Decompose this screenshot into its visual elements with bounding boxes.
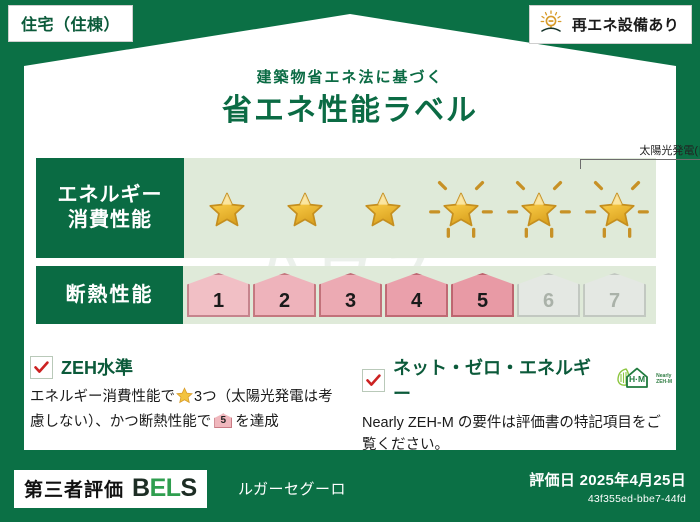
insulation-level-number: 5 [477,290,488,313]
housing-type-tag: 住宅（住棟） [8,5,133,42]
zeh-m-caption-line2: ZEH-M [656,379,672,385]
star-rating [184,169,656,247]
insulation-level-2: 2 [253,273,316,317]
zeh-standard-header: ZEH水準 [30,354,340,380]
insulation-level-3: 3 [319,273,382,317]
energy-performance-label-box: エネルギー 消費性能 [36,158,184,258]
bels-letter-s: S [181,474,197,502]
energy-stars-area: 太陽光発電(自家消費)分 [184,158,656,258]
zeh-standard-block: ZEH水準 エネルギー消費性能で3つ（太陽光発電は考慮しない）、かつ断熱性能で5… [30,354,340,434]
insulation-level-number: 7 [609,290,620,313]
solar-annotation-caption: 太陽光発電(自家消費)分 [580,142,700,158]
energy-label-line2: 消費性能 [68,208,152,233]
star-icon [500,169,578,247]
zeh-body-part1: エネルギー消費性能で [30,389,175,405]
insulation-label: 断熱性能 [66,283,154,308]
solar-annotation: 太陽光発電(自家消費)分 [580,142,700,169]
energy-label-line1: エネルギー [58,183,163,208]
zeh-standard-body: エネルギー消費性能で3つ（太陽光発電は考慮しない）、かつ断熱性能で5を達成 [30,386,340,434]
net-zero-energy-title: ネット・ゼロ・エネルギー [393,354,604,406]
insulation-level-number: 2 [279,290,290,313]
bels-certification-box: 第三者評価 BELS [14,470,207,508]
star-icon [344,169,422,247]
evaluation-info: 評価日 2025年4月25日 43f355ed-bbe7-44fd [529,469,686,505]
star-icon [422,169,500,247]
label-subtitle: 建築物省エネ法に基づく [0,66,700,87]
evaluation-date: 評価日 2025年4月25日 [529,469,686,490]
company-name: ルガーセグーロ [238,478,346,499]
net-zero-energy-body: Nearly ZEH-M の要件は評価書の特記項目をご覧ください。 [362,412,672,457]
star-icon [188,169,266,247]
zeh-standard-title: ZEH水準 [61,354,133,380]
insulation-level-6: 6 [517,273,580,317]
insulation-level-number: 1 [213,290,224,313]
insulation-level-number: 6 [543,290,554,313]
renewable-equipment-badge: 再エネ設備あり [529,5,692,44]
insulation-level-inline-num: 5 [214,413,232,428]
label-title: 省エネ性能ラベル [0,85,700,129]
insulation-level-5: 5 [451,273,514,317]
insulation-level-number: 3 [345,290,356,313]
bels-letter-b: B [132,474,150,502]
net-zero-energy-block: ネット・ゼロ・エネルギー H·M Nearly ZEH-M [362,354,672,457]
energy-performance-label: ハウス 住宅（住棟） 再エネ設備あり [0,0,700,522]
insulation-level-1: 1 [187,273,250,317]
zeh-body-part3: を達成 [235,414,279,430]
third-party-evaluation-label: 第三者評価 [24,475,124,502]
zeh-standard-checkbox[interactable] [30,356,53,379]
net-zero-energy-checkbox[interactable] [362,369,385,392]
insulation-level-list: 1 2 3 4 5 6 7 [187,273,646,317]
star-icon [176,387,193,411]
zeh-m-logo-caption: Nearly ZEH-M [656,374,672,386]
insulation-level-4: 4 [385,273,448,317]
solar-sun-icon [538,10,564,39]
net-zero-energy-header: ネット・ゼロ・エネルギー H·M Nearly ZEH-M [362,354,672,406]
bels-letter-e: E [150,474,166,502]
bels-logo: BELS [132,474,197,503]
zeh-m-logo: H·M Nearly ZEH-M [614,366,672,394]
insulation-performance-label-box: 断熱性能 [36,266,183,324]
evaluation-id: 43f355ed-bbe7-44fd [529,493,686,505]
star-icon [578,169,656,247]
solar-annotation-bracket [580,159,700,169]
footer-bar: 第三者評価 BELS ルガーセグーロ 評価日 2025年4月25日 43f355… [0,458,700,522]
insulation-level-7: 7 [583,273,646,317]
check-icon [366,374,381,387]
check-icon [34,361,49,374]
svg-text:H·M: H·M [629,374,645,384]
insulation-performance-row: 断熱性能 1 2 3 4 5 6 7 [36,266,656,324]
insulation-levels-area: 1 2 3 4 5 6 7 [183,266,656,324]
renewable-badge-label: 再エネ設備あり [572,14,679,35]
star-icon [266,169,344,247]
energy-performance-row: エネルギー 消費性能 太陽光発電(自家消費)分 [36,158,656,258]
insulation-level-number: 4 [411,290,422,313]
insulation-level-inline: 5 [214,413,232,428]
bels-letter-l: L [166,474,181,502]
